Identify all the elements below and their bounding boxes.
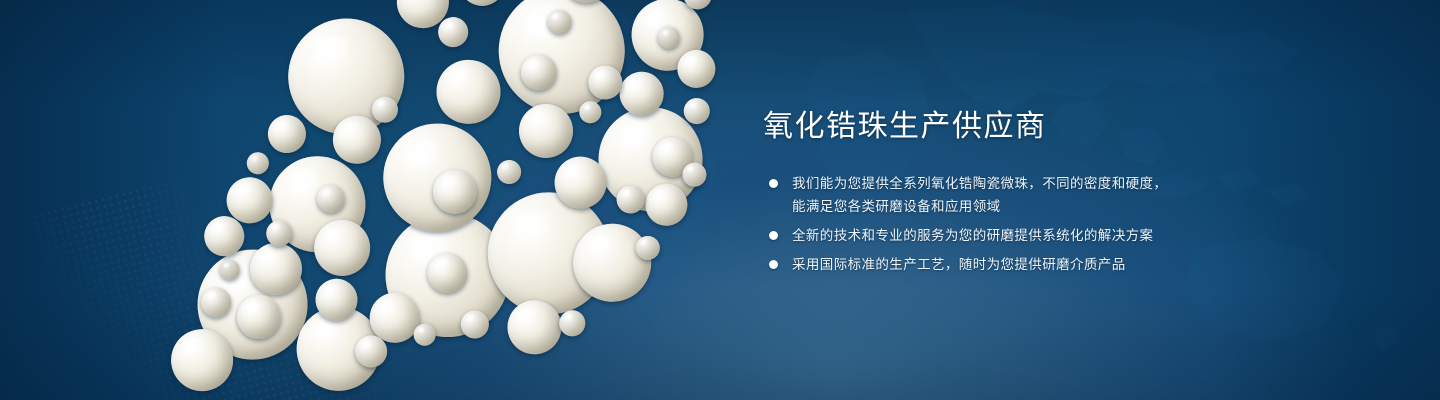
bead <box>437 16 470 49</box>
bead <box>246 151 270 175</box>
bead <box>457 0 508 8</box>
bullet-dot-icon <box>769 179 778 188</box>
list-item: 我们能为您提供全系列氧化锆陶瓷微珠，不同的密度和硬度， 能满足您各类研磨设备和应… <box>763 172 1323 218</box>
promo-banner: 氧化锆珠生产供应商 我们能为您提供全系列氧化锆陶瓷微珠，不同的密度和硬度， 能满… <box>0 0 1440 400</box>
list-item-line: 我们能为您提供全系列氧化锆陶瓷微珠，不同的密度和硬度， <box>792 172 1323 195</box>
list-item-line: 能满足您各类研磨设备和应用领域 <box>792 195 1323 218</box>
page-title: 氧化锆珠生产供应商 <box>763 108 1323 146</box>
feature-list: 我们能为您提供全系列氧化锆陶瓷微珠，不同的密度和硬度， 能满足您各类研磨设备和应… <box>763 172 1323 276</box>
bullet-dot-icon <box>769 231 778 240</box>
bead <box>433 57 503 127</box>
zirconia-beads-image <box>72 0 758 400</box>
list-item-line: 采用国际标准的生产工艺，随时为您提供研磨介质产品 <box>792 253 1323 276</box>
bead-cluster <box>72 0 758 400</box>
bead <box>558 309 587 338</box>
list-item: 采用国际标准的生产工艺，随时为您提供研磨介质产品 <box>763 253 1323 276</box>
bullet-dot-icon <box>769 260 778 269</box>
bead <box>578 100 602 124</box>
bead <box>266 113 308 155</box>
list-item-line: 全新的技术和专业的服务为您的研磨提供系统化的解决方案 <box>792 224 1323 247</box>
list-item: 全新的技术和专业的服务为您的研磨提供系统化的解决方案 <box>763 224 1323 247</box>
banner-copy: 氧化锆珠生产供应商 我们能为您提供全系列氧化锆陶瓷微珠，不同的密度和硬度， 能满… <box>763 108 1323 276</box>
bead <box>496 159 522 185</box>
